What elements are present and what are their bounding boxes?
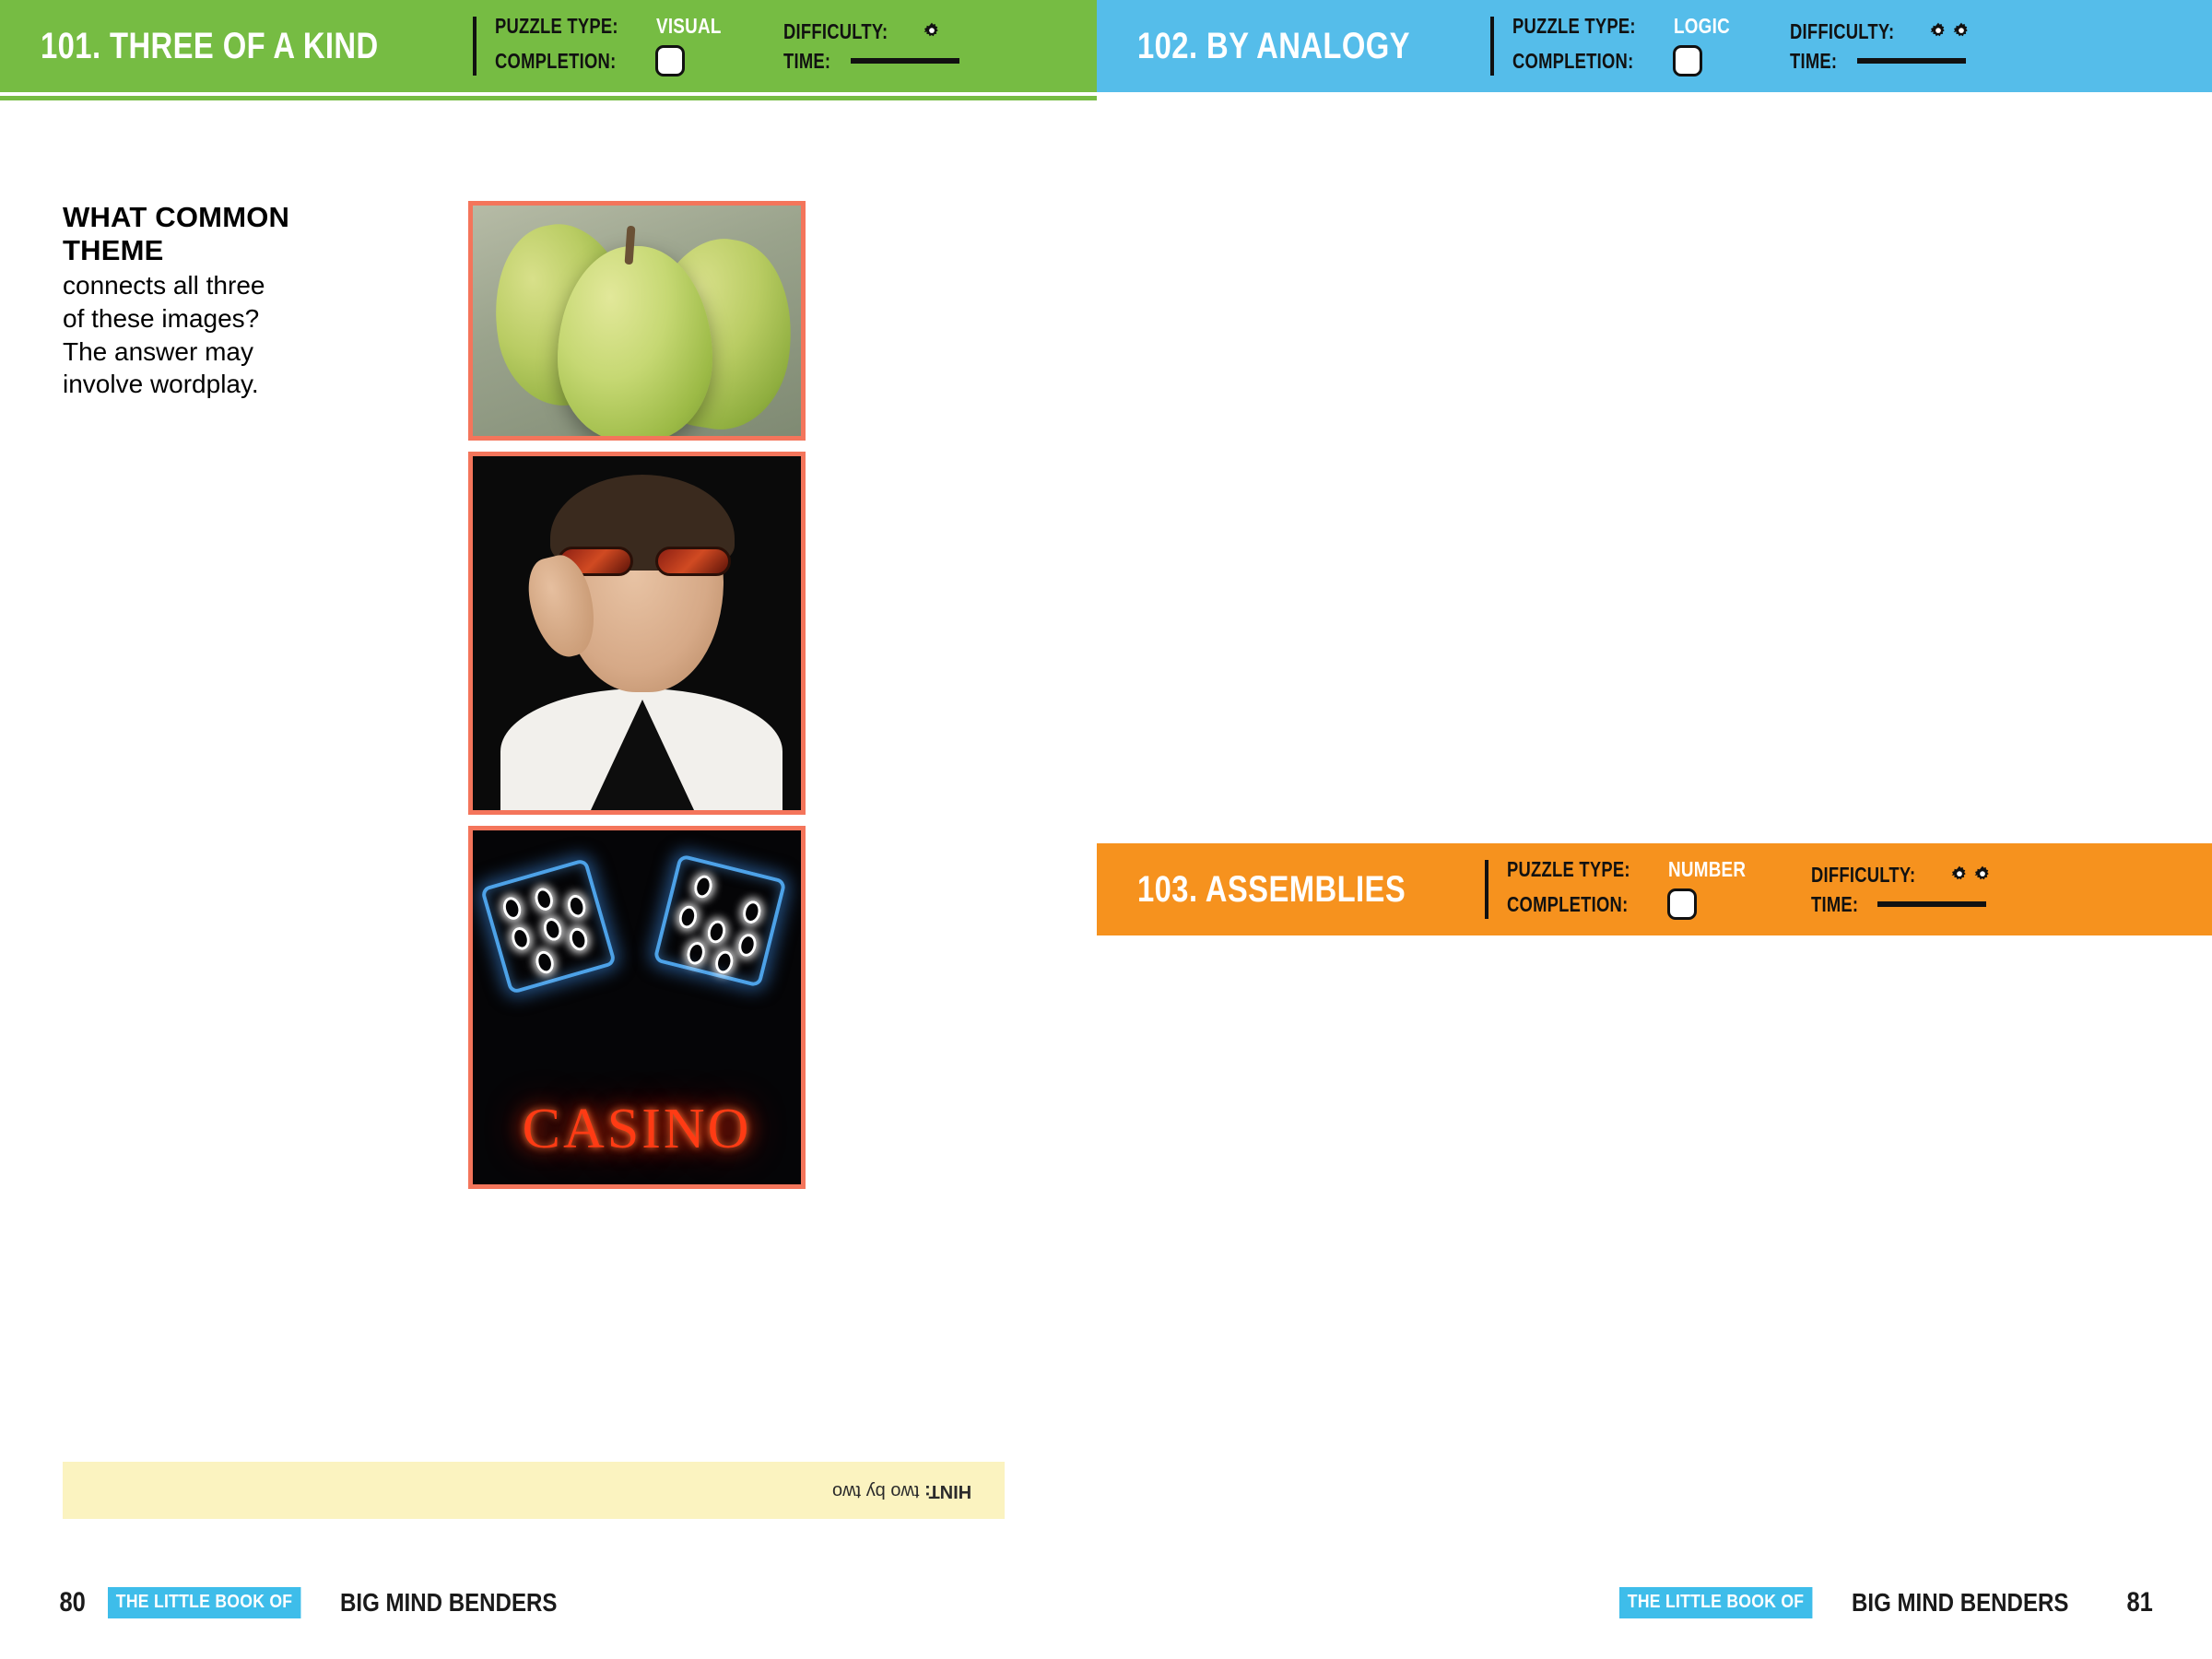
page-number-left: 80 [60,1587,86,1618]
difficulty-gears [922,21,942,41]
completion-label: COMPLETION: [495,51,616,72]
question-lead-101: WHAT COMMON THEME [63,201,293,267]
brand-tag: THE LITTLE BOOK OF [108,1587,300,1618]
difficulty-label: DIFFICULTY: [1790,21,1894,42]
header-accent-line [0,96,1097,100]
puzzle-type-label: PUZZLE TYPE: [1507,859,1630,880]
puzzle-title-101: 101. THREE OF A KIND [41,28,379,65]
brand-name: BIG MIND BENDERS [340,1588,557,1618]
page-left: 101. THREE OF A KIND PUZZLE TYPE: VISUAL… [0,0,1097,1659]
die-pip [500,895,524,922]
puzzle-header-103: 103. ASSEMBLIES PUZZLE TYPE: NUMBER COMP… [1097,843,2212,935]
completion-checkbox[interactable] [1673,45,1702,76]
footer-right: THE LITTLE BOOK OF BIG MIND BENDERS 81 [1619,1587,2155,1618]
brand-name: BIG MIND BENDERS [1852,1588,2068,1618]
die-pip [509,925,532,952]
neon-die-right [653,853,786,987]
gear-icon [1972,865,1993,885]
puzzle-header-102: 102. BY ANALOGY PUZZLE TYPE: LOGIC COMPL… [1097,0,2212,92]
die-pip [534,948,557,975]
time-label: TIME: [783,51,830,72]
time-label: TIME: [1811,894,1858,915]
difficulty-gears [1949,865,1993,885]
header-divider [473,17,477,76]
puzzle-type-label: PUZZLE TYPE: [495,16,618,37]
time-label: TIME: [1790,51,1837,72]
sunglasses-icon [558,547,731,578]
puzzle-type-row: PUZZLE TYPE: NUMBER [1507,859,1763,880]
sunglasses-man-photo [468,452,806,815]
question-rest-101: connects all three of these images? The … [63,269,293,401]
time-row: TIME: [1811,894,1993,915]
time-blank-line[interactable] [1857,58,1966,64]
pears-photo [468,201,806,441]
difficulty-row: DIFFICULTY: [1790,21,1971,42]
gear-icon [1949,865,1970,885]
completion-checkbox[interactable] [655,45,685,76]
completion-row: COMPLETION: [1507,888,1763,920]
footer-left: 80 THE LITTLE BOOK OF BIG MIND BENDERS [57,1587,593,1618]
die-pip [705,919,727,946]
completion-label: COMPLETION: [1507,894,1628,915]
hint-label: HINT: [924,1481,971,1501]
lens-right [655,547,731,576]
header-meta-103: PUZZLE TYPE: NUMBER COMPLETION: DIFFICUL… [1507,859,1993,920]
die-pip [677,904,699,931]
gear-icon [922,21,942,41]
time-blank-line[interactable] [851,58,959,64]
puzzle-type-value: NUMBER [1668,859,1746,880]
completion-row: COMPLETION: [1512,45,1743,76]
puzzle-type-row: PUZZLE TYPE: LOGIC [1512,16,1743,37]
header-divider [1485,860,1488,919]
hint-body: two by two [832,1481,924,1501]
die-pip [736,932,759,959]
difficulty-label: DIFFICULTY: [783,21,888,42]
puzzle-type-value: VISUAL [656,16,722,37]
die-pip [713,949,735,976]
time-blank-line[interactable] [1877,901,1986,907]
gear-icon [1951,21,1971,41]
puzzle-type-value: LOGIC [1674,16,1730,37]
difficulty-row: DIFFICULTY: [1811,865,1993,886]
hint-band-101: HINT: two by two [63,1462,1005,1519]
puzzle-header-101: 101. THREE OF A KIND PUZZLE TYPE: VISUAL… [0,0,1097,92]
completion-checkbox[interactable] [1667,888,1697,920]
casino-neon-photo: CASINO [468,826,806,1189]
die-pip [567,925,590,952]
header-divider [1490,17,1494,76]
question-text-101: WHAT COMMON THEME connects all three of … [63,201,293,401]
header-meta-101: PUZZLE TYPE: VISUAL COMPLETION: DIFFICUL… [495,16,959,76]
time-row: TIME: [783,51,959,72]
book-spread: 101. THREE OF A KIND PUZZLE TYPE: VISUAL… [0,0,2212,1659]
page-number-right: 81 [2126,1587,2152,1618]
casino-neon-word: CASINO [473,1097,801,1162]
completion-label: COMPLETION: [1512,51,1633,72]
gear-icon [1928,21,1948,41]
page-right: 102. BY ANALOGY PUZZLE TYPE: LOGIC COMPL… [1097,0,2212,1659]
hint-text-101: HINT: two by two [832,1480,971,1501]
die-pip [541,916,564,943]
time-row: TIME: [1790,51,1971,72]
image-stack-101: CASINO [468,201,806,1200]
die-pip [565,893,588,920]
brand-tag: THE LITTLE BOOK OF [1619,1587,1812,1618]
difficulty-row: DIFFICULTY: [783,21,959,42]
difficulty-label: DIFFICULTY: [1811,865,1915,886]
puzzle-type-label: PUZZLE TYPE: [1512,16,1636,37]
puzzle-title-102: 102. BY ANALOGY [1137,28,1410,65]
header-meta-102: PUZZLE TYPE: LOGIC COMPLETION: DIFFICULT… [1512,16,1971,76]
die-pip [692,874,714,900]
die-pip [741,899,763,925]
puzzle-title-103: 103. ASSEMBLIES [1137,871,1406,908]
puzzle-type-row: PUZZLE TYPE: VISUAL [495,16,735,37]
difficulty-gears [1928,21,1971,41]
neon-die-left [480,858,617,994]
completion-row: COMPLETION: [495,45,735,76]
die-pip [533,886,556,912]
die-pip [685,940,707,967]
